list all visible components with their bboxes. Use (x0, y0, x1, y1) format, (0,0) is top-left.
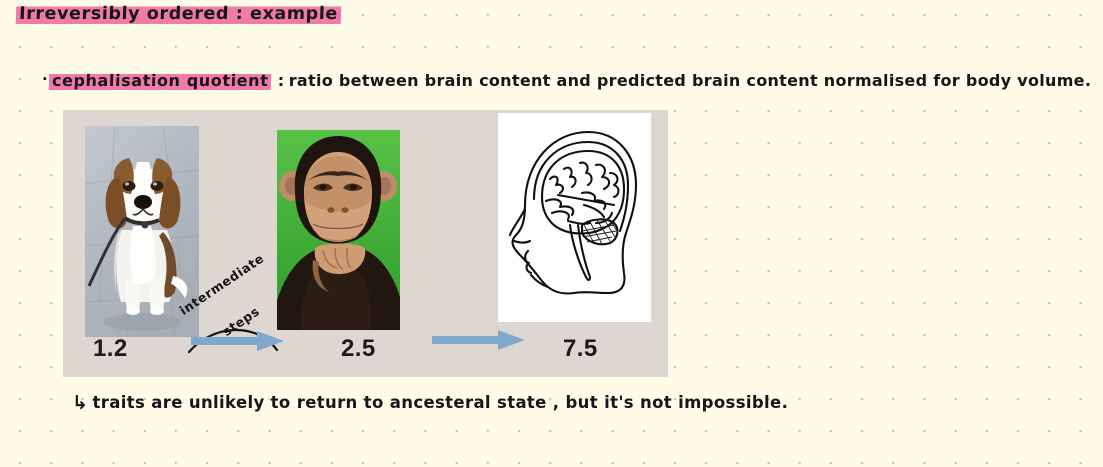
page-title-text: Irreversibly ordered : example (16, 3, 342, 26)
beagle-dog-photo (85, 126, 199, 337)
definition-separator: : (278, 71, 285, 90)
bullet-dot-icon: · (42, 70, 48, 88)
definition-body: ratio between brain content and predicte… (289, 71, 1091, 90)
definition-term: cephalisation quotient (49, 71, 272, 91)
cq-value-dog: 1.2 (93, 335, 128, 363)
cq-value-human: 7.5 (563, 335, 598, 363)
human-brain-diagram (498, 113, 651, 322)
cephalisation-figure-panel: intermediate steps 1.2 2.5 7.5 (63, 110, 668, 377)
bottom-note: ↳traits are unlikely to return to ancest… (72, 392, 788, 414)
bottom-note-text: traits are unlikely to return to anceste… (93, 393, 789, 412)
chimpanzee-photo (277, 130, 400, 330)
cq-value-chimpanzee: 2.5 (341, 335, 376, 363)
dog-image-graphic (85, 126, 199, 337)
flow-arrow-chimp-to-human (432, 329, 526, 355)
page-title: Irreversibly ordered : example (16, 3, 341, 26)
flow-arrow-dog-to-chimp (191, 330, 285, 356)
brain-diagram-graphic (498, 113, 651, 322)
note-arrow-icon: ↳ (72, 392, 89, 414)
chimp-image-graphic (277, 130, 400, 330)
definition-line: ·cephalisation quotient:ratio between br… (42, 70, 1091, 91)
